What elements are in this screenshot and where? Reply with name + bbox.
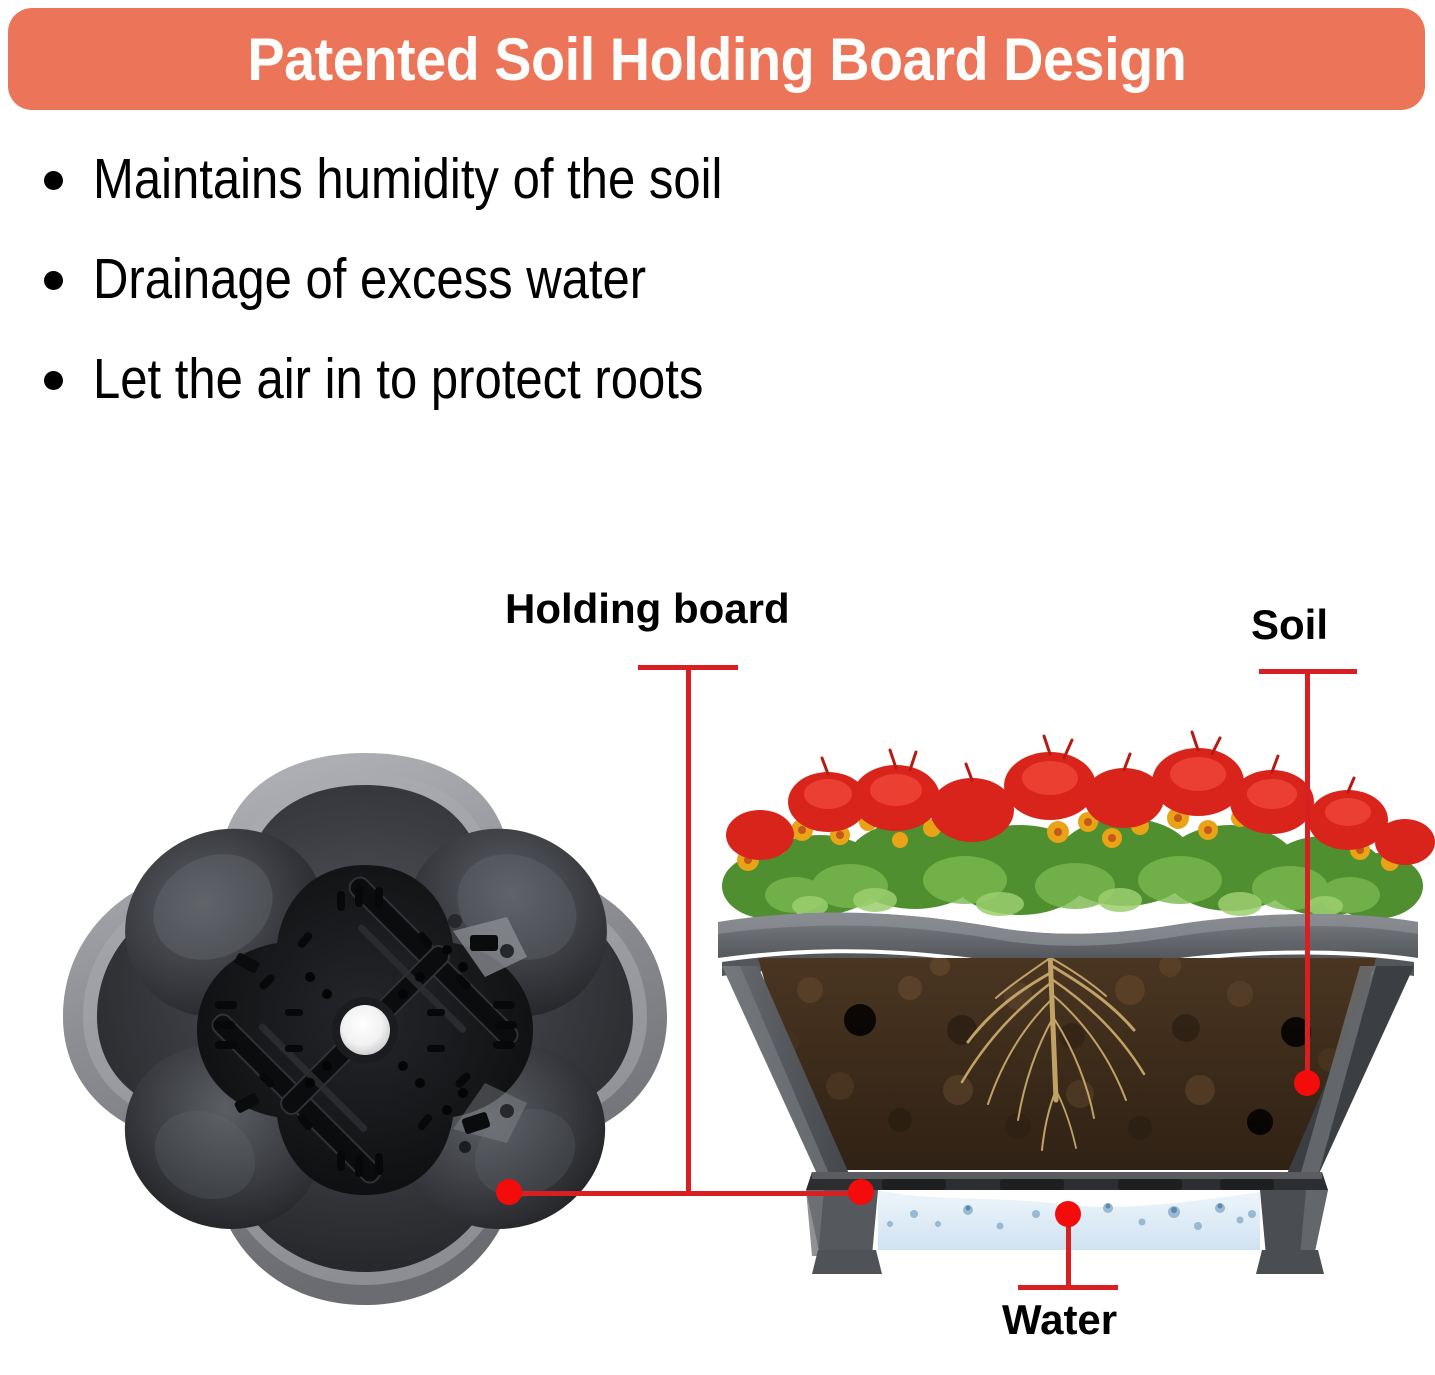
bullet-text: Maintains humidity of the soil — [93, 150, 722, 210]
bullet-text: Let the air in to protect roots — [93, 350, 703, 410]
leader-dot-water — [1055, 1201, 1081, 1227]
page-title: Patented Soil Holding Board Design — [247, 25, 1186, 94]
bullet-point-icon — [44, 371, 63, 390]
leader-line-water-tbar — [1018, 1285, 1118, 1290]
planter-cross-section — [700, 690, 1435, 1290]
callout-label-holding-board: Holding board — [505, 585, 790, 633]
bullet-point-icon — [44, 171, 63, 190]
quatrefoil-planter-top-view — [55, 745, 675, 1375]
callout-label-water: Water — [1002, 1296, 1117, 1344]
center-drainage-hole — [332, 997, 398, 1063]
feature-bullet-list: Maintains humidity of the soil Drainage … — [44, 150, 1144, 450]
leader-dot-soil — [1294, 1070, 1320, 1096]
leader-line-holding-board-horiz — [509, 1191, 861, 1196]
leader-line-holding-board-vert — [686, 665, 691, 1194]
leader-dot-holding-board-right — [848, 1179, 874, 1205]
callout-label-soil: Soil — [1251, 601, 1328, 649]
list-item: Maintains humidity of the soil — [44, 150, 1144, 210]
holding-board — [806, 1172, 1328, 1190]
list-item: Let the air in to protect roots — [44, 350, 1144, 410]
leader-line-soil-vert — [1305, 669, 1310, 1082]
header-banner: Patented Soil Holding Board Design — [8, 8, 1425, 110]
bullet-text: Drainage of excess water — [93, 250, 646, 310]
list-item: Drainage of excess water — [44, 250, 1144, 310]
bullet-point-icon — [44, 271, 63, 290]
leader-dot-holding-board-left — [496, 1179, 522, 1205]
chrysanthemum-plants — [722, 732, 1435, 919]
